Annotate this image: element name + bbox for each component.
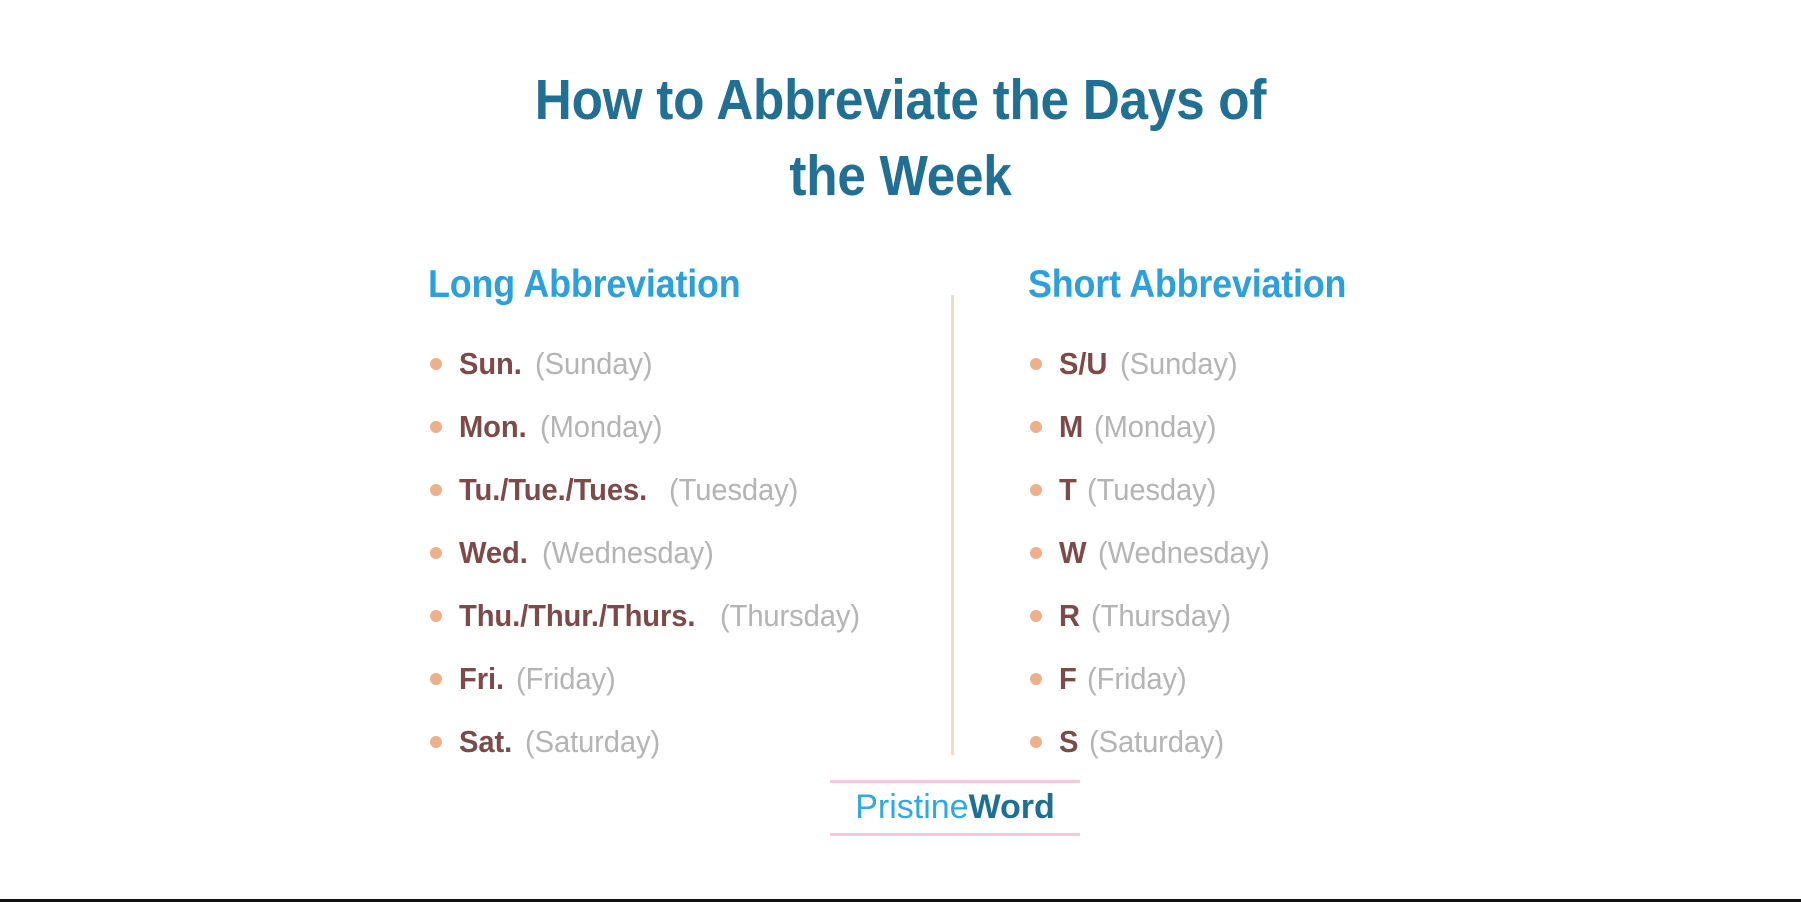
full-day-name: (Thursday) [1091, 584, 1231, 647]
full-day-name: (Sunday) [535, 332, 653, 395]
list-item: F (Friday) [1028, 647, 1548, 710]
bullet-dot-icon [1030, 736, 1042, 748]
column-heading-short: Short Abbreviation [1028, 262, 1506, 308]
bullet-dot-icon [430, 673, 442, 685]
list-item: S (Saturday) [1028, 710, 1548, 773]
list-item: Sun. (Sunday) [428, 332, 928, 395]
abbreviation-text: Fri. [459, 647, 504, 710]
abbreviation-list-short: S/U (Sunday) M (Monday) T (Tuesday) W (W… [1028, 332, 1548, 773]
abbreviation-text: T [1059, 458, 1077, 521]
abbreviation-text: S [1059, 710, 1078, 773]
bullet-dot-icon [1030, 421, 1042, 433]
bullet-dot-icon [430, 547, 442, 559]
full-day-name: (Thursday) [720, 584, 860, 647]
site-logo-text: PristineWord [830, 787, 1080, 827]
column-long-abbreviation: Long Abbreviation Sun. (Sunday) Mon. (Mo… [428, 262, 928, 773]
list-item: Mon. (Monday) [428, 395, 928, 458]
abbreviation-text: M [1059, 395, 1083, 458]
full-day-name: (Friday) [1087, 647, 1187, 710]
page-title: How to Abbreviate the Days of the Week [0, 62, 1801, 214]
full-day-name: (Wednesday) [542, 521, 714, 584]
full-day-name: (Saturday) [1089, 710, 1224, 773]
column-heading-long: Long Abbreviation [428, 262, 888, 308]
list-item: T (Tuesday) [1028, 458, 1548, 521]
bullet-dot-icon [430, 484, 442, 496]
abbreviation-text: Mon. [459, 395, 527, 458]
column-short-abbreviation: Short Abbreviation S/U (Sunday) M (Monda… [1028, 262, 1548, 773]
list-item: W (Wednesday) [1028, 521, 1548, 584]
list-item: S/U (Sunday) [1028, 332, 1548, 395]
full-day-name: (Tuesday) [669, 458, 798, 521]
site-logo-part-two: Word [969, 788, 1055, 826]
full-day-name: (Monday) [1094, 395, 1216, 458]
abbreviation-text: Tu./Tue./Tues. [459, 458, 647, 521]
full-day-name: (Tuesday) [1087, 458, 1216, 521]
list-item: Fri. (Friday) [428, 647, 928, 710]
list-item: Sat. (Saturday) [428, 710, 928, 773]
full-day-name: (Wednesday) [1098, 521, 1270, 584]
bullet-dot-icon [1030, 610, 1042, 622]
full-day-name: (Monday) [540, 395, 662, 458]
bullet-dot-icon [430, 421, 442, 433]
bullet-dot-icon [430, 358, 442, 370]
abbreviation-text: S/U [1059, 332, 1107, 395]
abbreviation-text: Sat. [459, 710, 512, 773]
page-title-line-1: How to Abbreviate the Days of [90, 62, 1711, 138]
bullet-dot-icon [1030, 358, 1042, 370]
site-logo-part-one: Pristine [855, 788, 968, 826]
list-item: M (Monday) [1028, 395, 1548, 458]
abbreviation-text: Sun. [459, 332, 522, 395]
bullet-dot-icon [430, 610, 442, 622]
site-logo[interactable]: PristineWord [830, 780, 1080, 836]
list-item: Tu./Tue./Tues. (Tuesday) [428, 458, 928, 521]
list-item: Thu./Thur./Thurs. (Thursday) [428, 584, 928, 647]
page-title-line-2: the Week [90, 138, 1711, 214]
abbreviation-text: Thu./Thur./Thurs. [459, 584, 695, 647]
full-day-name: (Friday) [516, 647, 616, 710]
slide-canvas: How to Abbreviate the Days of the Week L… [0, 0, 1801, 902]
full-day-name: (Sunday) [1120, 332, 1238, 395]
bullet-dot-icon [1030, 673, 1042, 685]
abbreviation-text: Wed. [459, 521, 528, 584]
bullet-dot-icon [430, 736, 442, 748]
bullet-dot-icon [1030, 484, 1042, 496]
abbreviation-columns: Long Abbreviation Sun. (Sunday) Mon. (Mo… [0, 262, 1801, 762]
abbreviation-text: F [1059, 647, 1077, 710]
list-item: R (Thursday) [1028, 584, 1548, 647]
list-item: Wed. (Wednesday) [428, 521, 928, 584]
full-day-name: (Saturday) [525, 710, 660, 773]
abbreviation-list-long: Sun. (Sunday) Mon. (Monday) Tu./Tue./Tue… [428, 332, 928, 773]
abbreviation-text: R [1059, 584, 1080, 647]
bullet-dot-icon [1030, 547, 1042, 559]
abbreviation-text: W [1059, 521, 1086, 584]
